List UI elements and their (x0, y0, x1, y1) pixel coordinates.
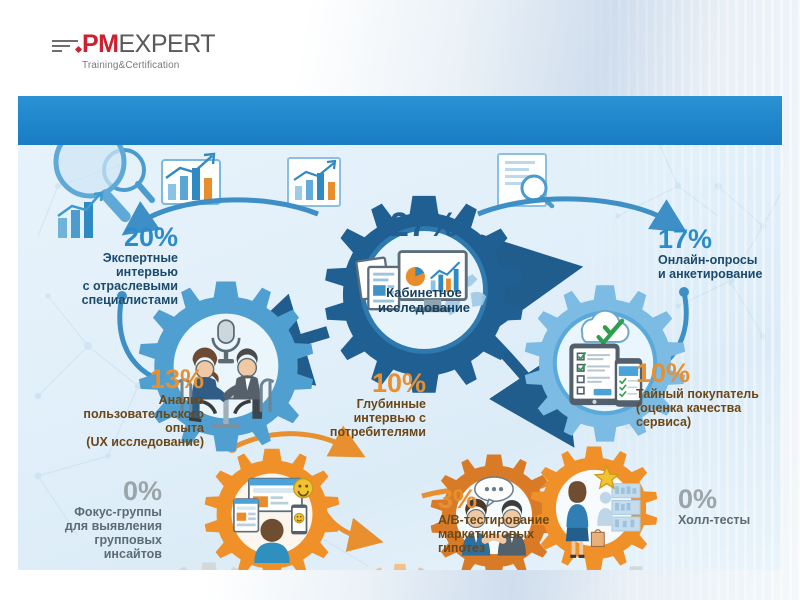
stat-focus-groups-pct: 0% (24, 478, 162, 505)
logo-tagline: Training&Certification (82, 60, 215, 71)
stat-focus-groups: 0% Фокус-группы для выявления групповых … (24, 478, 162, 561)
stat-expert-interviews-caption: Экспертные интервью с отраслевыми специа… (42, 251, 178, 307)
stat-mystery-shopper-pct: 10% (636, 360, 782, 387)
logo-brand-secondary: EXPERT (119, 32, 216, 57)
stat-mystery-shopper: 10% Тайный покупатель (оценка качества с… (636, 360, 782, 429)
gear-ux-research[interactable] (204, 446, 340, 570)
stat-hall-tests-pct: 0% (678, 486, 782, 513)
stat-desk-research-pct: 27% (340, 208, 508, 242)
stat-expert-interviews-pct: 20% (42, 224, 178, 251)
stat-online-surveys-pct: 17% (658, 226, 782, 253)
poster-title-bar (18, 96, 782, 145)
stat-desk-research-caption: Кабинетное исследование (340, 286, 508, 315)
slide-canvas: PM EXPERT Training&Certification (0, 0, 800, 600)
stat-hall-tests: 0% Холл-тесты (678, 486, 782, 527)
stat-ux-research-caption: Анализ пользовательского опыта (UX иссле… (56, 393, 204, 449)
infographic-poster: ИТОГИ ОПРОСА: КАК ВЫ ИССЛЕДУЕТЕ РЫНОК (18, 96, 782, 570)
stat-mystery-shopper-caption: Тайный покупатель (оценка качества серви… (636, 387, 782, 429)
stat-online-surveys-caption: Онлайн-опросы и анкетирование (658, 253, 782, 281)
logo-lines-icon (52, 36, 80, 54)
gear-focus-groups[interactable] (150, 560, 268, 570)
stat-desk-research: 27% (340, 208, 508, 242)
stat-ab-testing: 3% A/B-тестирование маркетинговых гипоте… (438, 486, 588, 555)
stat-ab-testing-pct: 3% (438, 486, 588, 513)
stat-ux-research: 13% Анализ пользовательского опыта (UX и… (56, 366, 204, 449)
logo-brand-primary: PM (82, 32, 119, 57)
gear-ab-testing[interactable]: A B (352, 562, 448, 570)
gear-hall-tests[interactable] (580, 564, 692, 570)
stat-focus-groups-caption: Фокус-группы для выявления групповых инс… (24, 505, 162, 561)
stat-ab-testing-caption: A/B-тестирование маркетинговых гипотез (438, 513, 588, 555)
stat-depth-interviews-pct: 10% (310, 370, 426, 397)
stat-depth-interviews: 10% Глубинные интервью с потребителями (310, 370, 426, 439)
stat-depth-interviews-caption: Глубинные интервью с потребителями (310, 397, 426, 439)
pmexpert-logo: PM EXPERT Training&Certification (52, 32, 215, 71)
stat-expert-interviews: 20% Экспертные интервью с отраслевыми сп… (42, 224, 178, 307)
stat-hall-tests-caption: Холл-тесты (678, 513, 782, 527)
stat-online-surveys: 17% Онлайн-опросы и анкетирование (658, 226, 782, 281)
stat-ux-research-pct: 13% (56, 366, 204, 393)
